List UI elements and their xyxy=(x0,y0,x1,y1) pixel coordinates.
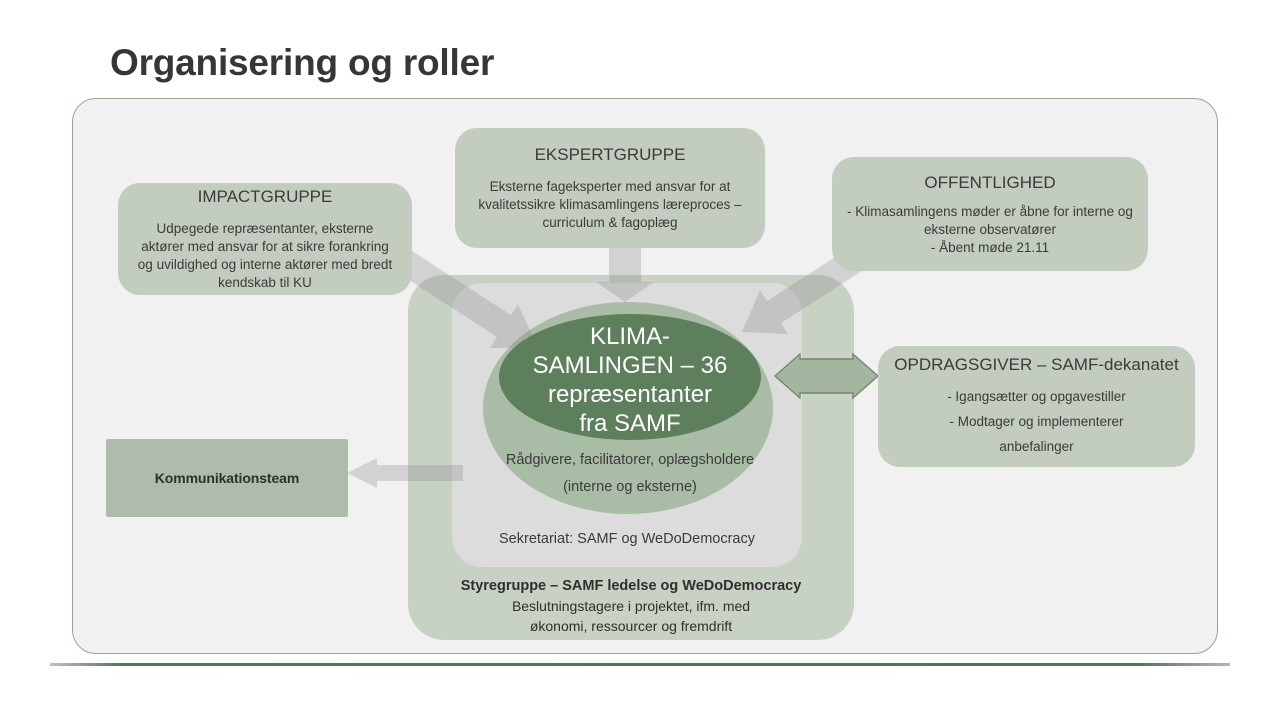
box-offentlighed[interactable]: OFFENTLIGHED - Klimasamlingens møder er … xyxy=(832,157,1148,271)
box-line: - Modtager og implementerer xyxy=(947,409,1126,434)
advisors-line: Rådgivere, facilitatorer, oplægsholdere xyxy=(470,447,790,474)
box-offentlighed-title: OFFENTLIGHED xyxy=(924,172,1055,194)
box-opdragsgiver-title: OPDRAGSGIVER – SAMF-dekanatet xyxy=(894,354,1178,376)
assembly-line: fra SAMF xyxy=(470,409,790,438)
box-kommunikationsteam[interactable]: Kommunikationsteam xyxy=(106,439,348,517)
steering-line: økonomi, ressourcer og fremdrift xyxy=(408,616,854,636)
box-line: - Klimasamlingens møder er åbne for inte… xyxy=(847,203,1133,221)
box-impactgruppe[interactable]: IMPACTGRUPPE Udpegede repræsentanter, ek… xyxy=(118,183,412,295)
steering-title: Styregruppe – SAMF ledelse og WeDoDemocr… xyxy=(408,576,854,596)
box-offentlighed-body: - Klimasamlingens møder er åbne for inte… xyxy=(847,203,1133,257)
assembly-label: KLIMA- SAMLINGEN – 36 repræsentanter fra… xyxy=(470,322,790,438)
box-line: kendskab til KU xyxy=(138,274,392,292)
advisors-label: Rådgivere, facilitatorer, oplægsholdere … xyxy=(470,447,790,501)
box-opdragsgiver[interactable]: OPDRAGSGIVER – SAMF-dekanatet - Igangsæt… xyxy=(878,346,1195,467)
box-impactgruppe-title: IMPACTGRUPPE xyxy=(198,186,333,208)
assembly-line: SAMLINGEN – 36 xyxy=(470,351,790,380)
box-line: - Igangsætter og opgavestiller xyxy=(947,384,1126,409)
box-line: aktører med ansvar for at sikre forankri… xyxy=(138,238,392,256)
slide-canvas: Organisering og roller KLIMA- SAMLINGEN … xyxy=(0,0,1280,720)
box-line: kvalitetssikre klimasamlingens læreproce… xyxy=(478,196,741,214)
box-impactgruppe-body: Udpegede repræsentanter, eksterne aktøre… xyxy=(138,220,392,292)
box-line: Udpegede repræsentanter, eksterne xyxy=(138,220,392,238)
box-line: Eksterne fageksperter med ansvar for at xyxy=(478,178,741,196)
box-ekspertgruppe-title: EKSPERTGRUPPE xyxy=(535,144,686,166)
box-line: og uvildighed og interne aktører med bre… xyxy=(138,256,392,274)
box-line: curriculum & fagoplæg xyxy=(478,214,741,232)
box-ekspertgruppe-body: Eksterne fageksperter med ansvar for at … xyxy=(478,178,741,232)
advisors-line: (interne og eksterne) xyxy=(470,474,790,501)
box-opdragsgiver-body: - Igangsætter og opgavestiller - Modtage… xyxy=(947,384,1126,459)
box-line: anbefalinger xyxy=(947,434,1126,459)
box-line: - Åbent møde 21.11 xyxy=(847,239,1133,257)
secretariat-label: Sekretariat: SAMF og WeDoDemocracy xyxy=(452,529,802,549)
box-kommunikationsteam-label: Kommunikationsteam xyxy=(155,470,299,486)
arrow-assembly-to-opdragsgiver xyxy=(775,354,878,398)
box-ekspertgruppe[interactable]: EKSPERTGRUPPE Eksterne fageksperter med … xyxy=(455,128,765,248)
assembly-line: KLIMA- xyxy=(470,322,790,351)
steering-label: Styregruppe – SAMF ledelse og WeDoDemocr… xyxy=(408,576,854,636)
footer-accent-rule xyxy=(50,663,1230,666)
steering-line: Beslutningstagere i projektet, ifm. med xyxy=(408,596,854,616)
assembly-line: repræsentanter xyxy=(470,380,790,409)
box-line: eksterne observatører xyxy=(847,221,1133,239)
